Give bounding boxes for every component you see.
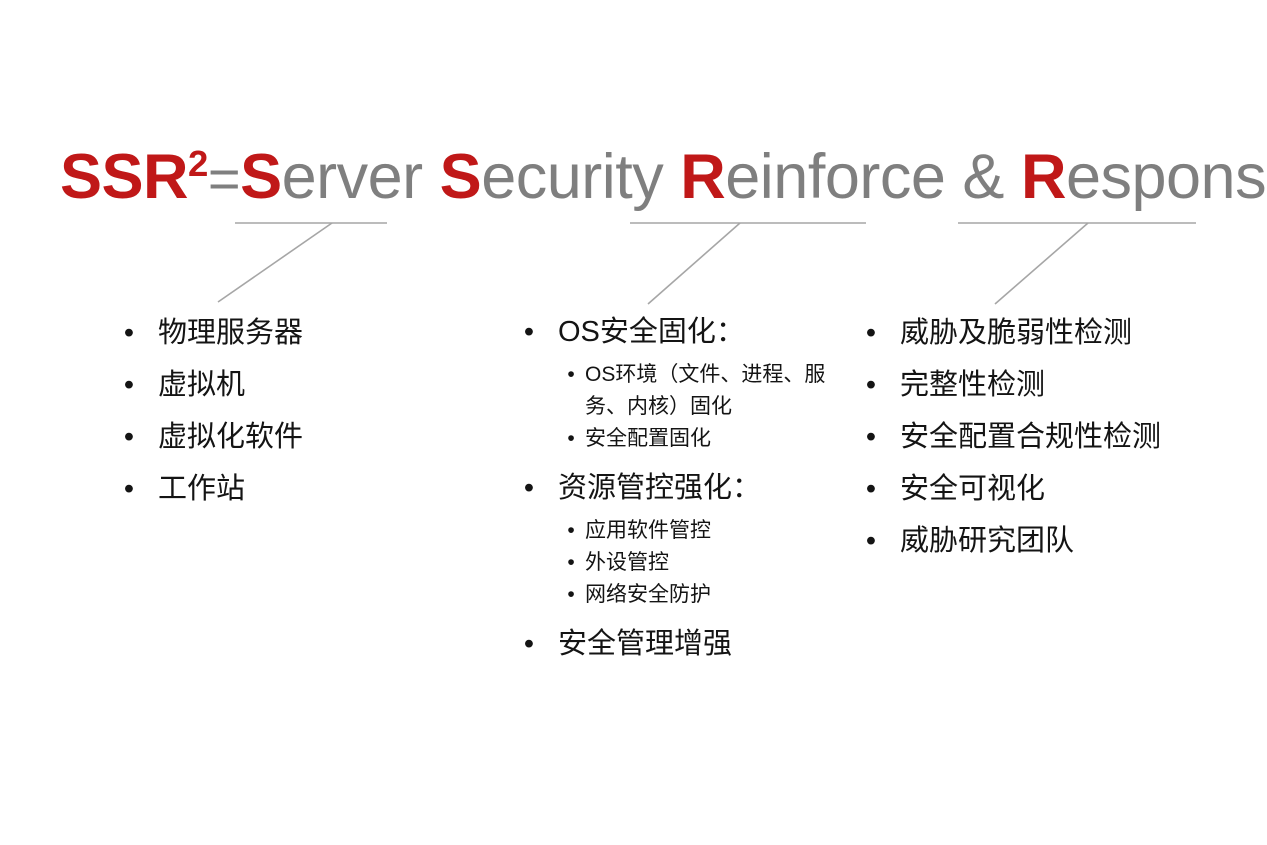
title-segment-11: R	[1021, 142, 1066, 212]
list-item[interactable]: •安全管理增强	[520, 619, 850, 669]
sub-list-item[interactable]: •网络安全防护	[558, 579, 850, 611]
bullet-icon: •	[864, 307, 878, 359]
bullet-icon: •	[122, 307, 136, 359]
sub-bullet-icon: •	[566, 579, 576, 611]
list-item[interactable]: •安全可视化	[862, 463, 1252, 515]
column-server: •物理服务器•虚拟机•虚拟化软件•工作站	[118, 307, 478, 515]
bullet-icon: •	[122, 463, 136, 515]
server-connector-diagonal	[218, 223, 332, 302]
sub-bullet-icon: •	[566, 515, 576, 547]
list-item-label: 工作站	[158, 463, 245, 515]
title-segment-5: S	[440, 142, 482, 212]
bullet-list-reinforce-response: •威胁及脆弱性检测•完整性检测•安全配置合规性检测•安全可视化•威胁研究团队	[862, 307, 1252, 567]
title-segment-0: SSR	[60, 142, 188, 212]
list-item-label: 完整性检测	[900, 359, 1045, 411]
sub-list-item-label: OS环境（文件、进程、服务、内核）固化	[585, 359, 847, 423]
bullet-icon: •	[864, 463, 878, 515]
title-segment-12: esponse	[1066, 142, 1267, 212]
list-item-label: 威胁及脆弱性检测	[900, 307, 1132, 359]
title-segment-7: R	[680, 142, 725, 212]
sub-list-item[interactable]: •应用软件管控	[558, 515, 850, 547]
bullet-icon: •	[864, 515, 878, 567]
list-item-label: OS安全固化：	[558, 307, 745, 357]
bullet-icon: •	[122, 411, 136, 463]
bullet-list-server: •物理服务器•虚拟机•虚拟化软件•工作站	[118, 307, 478, 515]
title-segment-3: S	[240, 142, 282, 212]
sub-list-item-label: 安全配置固化	[585, 423, 711, 455]
list-item[interactable]: •虚拟机	[118, 359, 478, 411]
list-item[interactable]: •威胁及脆弱性检测	[862, 307, 1252, 359]
bullet-icon: •	[864, 411, 878, 463]
list-item[interactable]: •工作站	[118, 463, 478, 515]
sub-list-item-label: 网络安全防护	[585, 579, 711, 611]
bullet-icon: •	[522, 307, 536, 357]
list-item-label: 虚拟化软件	[158, 411, 303, 463]
list-item-label: 虚拟机	[158, 359, 245, 411]
title-segment-4: erver	[282, 142, 440, 212]
column-reinforce-response: •威胁及脆弱性检测•完整性检测•安全配置合规性检测•安全可视化•威胁研究团队	[862, 307, 1252, 567]
reinforce-connector-diagonal	[995, 223, 1088, 304]
bullet-icon: •	[522, 619, 536, 669]
sub-list-item-label: 外设管控	[585, 547, 669, 579]
list-item-label: 安全管理增强	[558, 619, 732, 669]
list-item-label: 威胁研究团队	[900, 515, 1074, 567]
sub-bullet-icon: •	[566, 423, 576, 455]
list-item-label: 安全可视化	[900, 463, 1045, 515]
title-segment-6: ecurity	[481, 142, 680, 212]
list-item-label: 物理服务器	[158, 307, 303, 359]
column-security: •OS安全固化：•OS环境（文件、进程、服务、内核）固化•安全配置固化•资源管控…	[520, 307, 850, 669]
sub-bullet-icon: •	[566, 359, 576, 391]
list-item-label: 安全配置合规性检测	[900, 411, 1161, 463]
slide-canvas: SSR2=Server Security Reinforce & Respons…	[0, 0, 1267, 845]
sub-bullet-list: •OS环境（文件、进程、服务、内核）固化•安全配置固化	[558, 359, 850, 455]
title-segment-2: =	[208, 147, 240, 210]
bullet-icon: •	[122, 359, 136, 411]
list-item[interactable]: •安全配置合规性检测	[862, 411, 1252, 463]
title-segment-1: 2	[188, 143, 208, 184]
sub-list-item-label: 应用软件管控	[585, 515, 711, 547]
list-item[interactable]: •物理服务器	[118, 307, 478, 359]
title-segment-9: &	[962, 142, 1004, 212]
list-item[interactable]: •虚拟化软件	[118, 411, 478, 463]
title-segment-10	[1004, 142, 1021, 212]
bullet-list-security: •OS安全固化：•OS环境（文件、进程、服务、内核）固化•安全配置固化•资源管控…	[520, 307, 850, 669]
page-title: SSR2=Server Security Reinforce & Respons…	[60, 141, 1220, 213]
bullet-icon: •	[522, 463, 536, 513]
sub-list-item[interactable]: •安全配置固化	[558, 423, 850, 455]
sub-list-item[interactable]: •外设管控	[558, 547, 850, 579]
sub-bullet-list: •应用软件管控•外设管控•网络安全防护	[558, 515, 850, 611]
bullet-icon: •	[864, 359, 878, 411]
sub-list-item[interactable]: •OS环境（文件、进程、服务、内核）固化	[558, 359, 850, 423]
list-item[interactable]: •资源管控强化：•应用软件管控•外设管控•网络安全防护	[520, 463, 850, 611]
list-item[interactable]: •OS安全固化：•OS环境（文件、进程、服务、内核）固化•安全配置固化	[520, 307, 850, 455]
security-connector-diagonal	[648, 223, 740, 304]
list-item-label: 资源管控强化：	[558, 463, 761, 513]
title-segment-8: einforce	[725, 142, 962, 212]
list-item[interactable]: •完整性检测	[862, 359, 1252, 411]
list-item[interactable]: •威胁研究团队	[862, 515, 1252, 567]
sub-bullet-icon: •	[566, 547, 576, 579]
title-superscript: 2	[188, 143, 208, 184]
